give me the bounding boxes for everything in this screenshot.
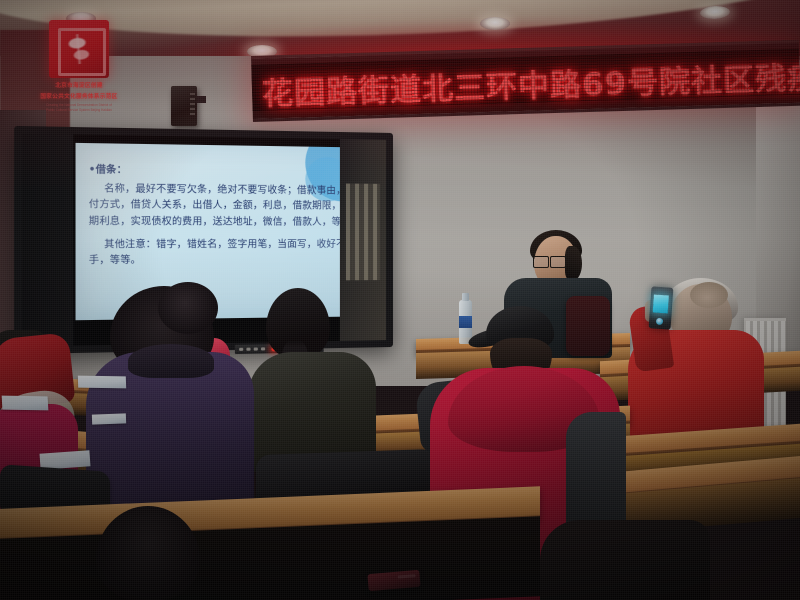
slide-paragraph-1: 名称，最好不要写欠条，绝对不要写收条；借款事由，交付方式，借贷人关系，出借人，金… xyxy=(89,181,358,230)
display-button[interactable] xyxy=(246,348,250,351)
display-button[interactable] xyxy=(261,347,265,350)
bottle-label xyxy=(459,316,472,328)
meeting-room-photo: 北京市海淀区创建 国家公共文化服务体系示范区 Creating the Nati… xyxy=(0,0,800,600)
elderly-man-scalp xyxy=(690,282,728,308)
camera-lens-icon xyxy=(656,318,663,325)
plaque-line2: 国家公共文化服务体系示范区 xyxy=(16,92,142,100)
wall-plaque: 北京市海淀区创建 国家公共文化服务体系示范区 Creating the Nati… xyxy=(16,20,142,116)
presenter-hair-side xyxy=(565,246,582,280)
glasses-icon xyxy=(533,256,567,267)
handout-paper xyxy=(2,396,49,411)
display-right-reflection xyxy=(340,139,386,341)
presentation-slide: •借条： 名称，最好不要写欠条，绝对不要写收条；借款事由，交付方式，借贷人关系，… xyxy=(76,143,369,320)
phone-screen xyxy=(653,294,669,313)
wall-speaker-icon xyxy=(171,86,197,126)
plaque-english: Creating the National Demonstration Dist… xyxy=(16,103,142,112)
slide-paragraph-2: 其他注意：错字，错姓名，签字用笔，当面写，收好不离手，等等。 xyxy=(89,237,358,269)
speaker-bracket xyxy=(197,96,206,103)
presenter-chair xyxy=(566,296,610,356)
led-panel: 花园路街道北三环中路69号院社区残疾人康复活动-- xyxy=(251,49,800,111)
plaque-line1: 北京市海淀区创建 xyxy=(16,81,142,89)
ceiling-downlight-icon xyxy=(480,17,510,30)
display-left-bezel-area xyxy=(22,133,73,346)
slide-text-block: •借条： 名称，最好不要写欠条，绝对不要写收条；借款事由，交付方式，借贷人关系，… xyxy=(76,143,369,269)
handout-paper xyxy=(92,413,126,424)
display-button[interactable] xyxy=(254,347,258,350)
handout-paper xyxy=(78,376,126,389)
slide-heading: •借条： xyxy=(89,162,358,181)
woman-left-hair-top xyxy=(158,282,218,334)
led-banner-text: 花园路街道北三环中路69号院社区残疾人康复活动-- xyxy=(261,47,800,114)
held-smartphone[interactable] xyxy=(649,286,674,329)
bottom-right-dark-mass xyxy=(540,520,710,600)
haidian-seal-icon xyxy=(49,20,109,78)
woman-left-collar xyxy=(128,344,214,378)
